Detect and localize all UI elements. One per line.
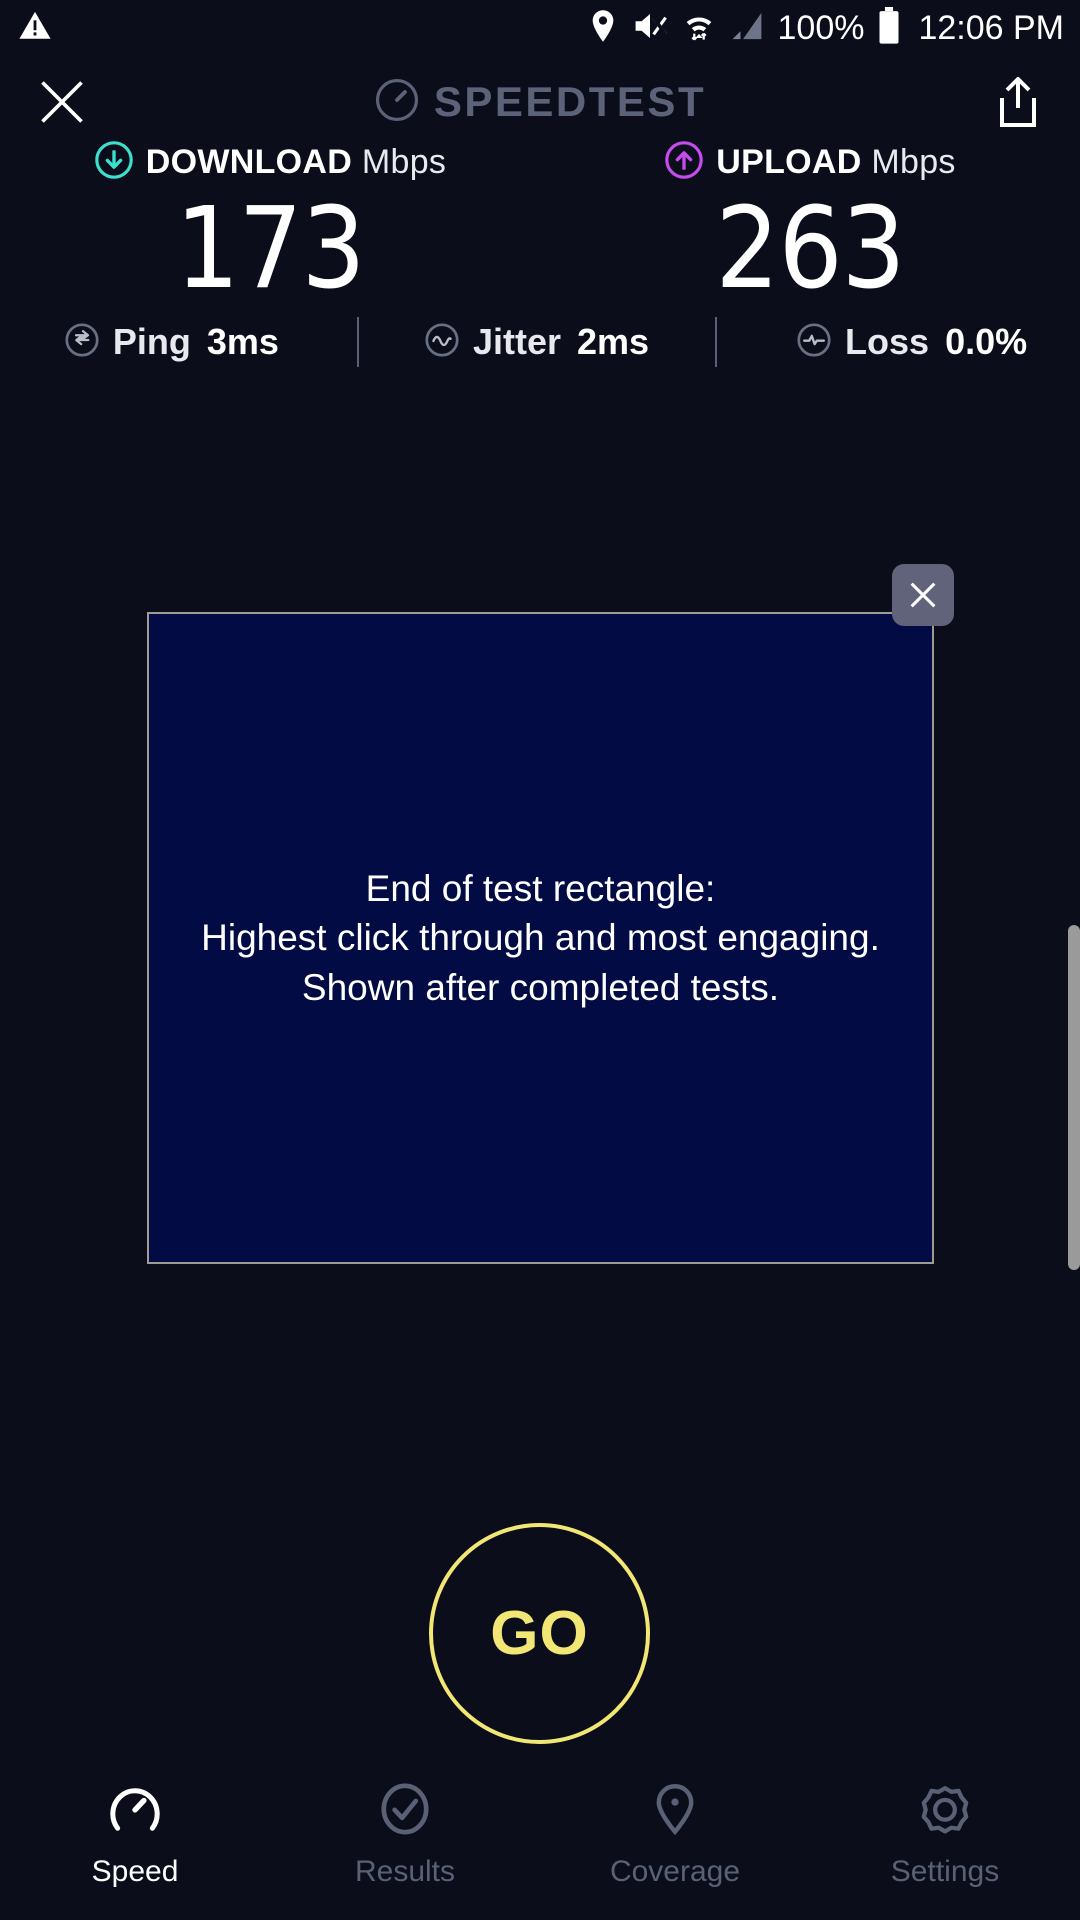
download-label-row: DOWNLOAD Mbps: [94, 140, 446, 185]
nav-item-coverage-label: Coverage: [610, 1855, 740, 1889]
upload-value: 263: [715, 191, 904, 307]
page-title: SPEEDTEST: [434, 78, 706, 126]
metric-jitter-label: Jitter: [473, 321, 561, 363]
upload-label-row: UPLOAD Mbps: [664, 140, 955, 185]
close-button[interactable]: [30, 70, 94, 134]
bottom-nav: Speed Results Coverage: [0, 1760, 1080, 1920]
volume-muted-icon: [632, 10, 668, 47]
nav-item-speed[interactable]: Speed: [0, 1782, 270, 1889]
status-bar-clock: 12:06 PM: [918, 9, 1064, 48]
metric-loss: Loss 0.0%: [795, 321, 1027, 364]
nav-item-coverage[interactable]: Coverage: [540, 1782, 810, 1889]
battery-full-icon: [878, 7, 900, 50]
nav-item-settings-label: Settings: [891, 1855, 999, 1889]
metric-loss-value: 0.0%: [945, 321, 1027, 363]
metric-jitter-value: 2ms: [577, 321, 649, 363]
check-circle-icon: [376, 1782, 434, 1841]
share-button[interactable]: [986, 70, 1050, 134]
nav-item-results[interactable]: Results: [270, 1782, 540, 1889]
download-arrow-icon: [94, 140, 134, 185]
header-title-group: SPEEDTEST: [0, 77, 1080, 128]
ad-rectangle[interactable]: End of test rectangle: Highest click thr…: [147, 612, 934, 1264]
location-pin-icon: [588, 9, 618, 48]
go-button[interactable]: GO: [429, 1523, 650, 1744]
share-icon: [994, 76, 1042, 128]
warning-triangle-icon: [18, 9, 52, 48]
upload-label: UPLOAD Mbps: [716, 143, 955, 182]
go-button-label: GO: [490, 1598, 588, 1669]
close-icon: [36, 76, 88, 128]
gear-icon: [916, 1782, 974, 1841]
download-result: DOWNLOAD Mbps 173: [0, 140, 540, 307]
ad-close-button[interactable]: [892, 564, 954, 626]
speedometer-icon: [106, 1782, 164, 1841]
nav-item-speed-label: Speed: [92, 1855, 179, 1889]
metric-ping-label: Ping: [113, 321, 191, 363]
upload-result: UPLOAD Mbps 263: [540, 140, 1080, 307]
wifi-icon: [682, 9, 716, 48]
status-bar: 100% 12:06 PM: [0, 0, 1080, 56]
metrics-row: Ping 3ms Jitter 2ms Loss 0.0: [0, 317, 1080, 367]
status-bar-right: 100% 12:06 PM: [588, 7, 1065, 50]
metric-ping: Ping 3ms: [63, 321, 279, 364]
nav-item-settings[interactable]: Settings: [810, 1782, 1080, 1889]
loss-icon: [795, 321, 833, 364]
metric-separator: [715, 317, 717, 367]
scrollbar[interactable]: [1068, 925, 1080, 1270]
battery-percent-label: 100%: [778, 9, 865, 48]
upload-arrow-icon: [664, 140, 704, 185]
map-pin-icon: [646, 1782, 704, 1841]
jitter-icon: [423, 321, 461, 364]
metric-jitter: Jitter 2ms: [423, 321, 649, 364]
ping-icon: [63, 321, 101, 364]
close-icon: [906, 578, 940, 612]
advertisement[interactable]: End of test rectangle: Highest click thr…: [147, 612, 934, 1264]
status-bar-left: [18, 9, 52, 48]
speeds-row: DOWNLOAD Mbps 173 UPLOAD Mbps 263: [0, 140, 1080, 307]
download-value: 173: [175, 191, 364, 307]
ad-text: End of test rectangle: Highest click thr…: [187, 864, 894, 1012]
metric-loss-label: Loss: [845, 321, 929, 363]
metric-separator: [357, 317, 359, 367]
download-label: DOWNLOAD Mbps: [146, 143, 446, 182]
app-header: SPEEDTEST: [0, 58, 1080, 146]
cell-signal-icon: [730, 10, 764, 47]
metric-ping-value: 3ms: [207, 321, 279, 363]
nav-item-results-label: Results: [355, 1855, 455, 1889]
results-panel: DOWNLOAD Mbps 173 UPLOAD Mbps 263: [0, 140, 1080, 367]
speedometer-icon: [374, 77, 420, 128]
